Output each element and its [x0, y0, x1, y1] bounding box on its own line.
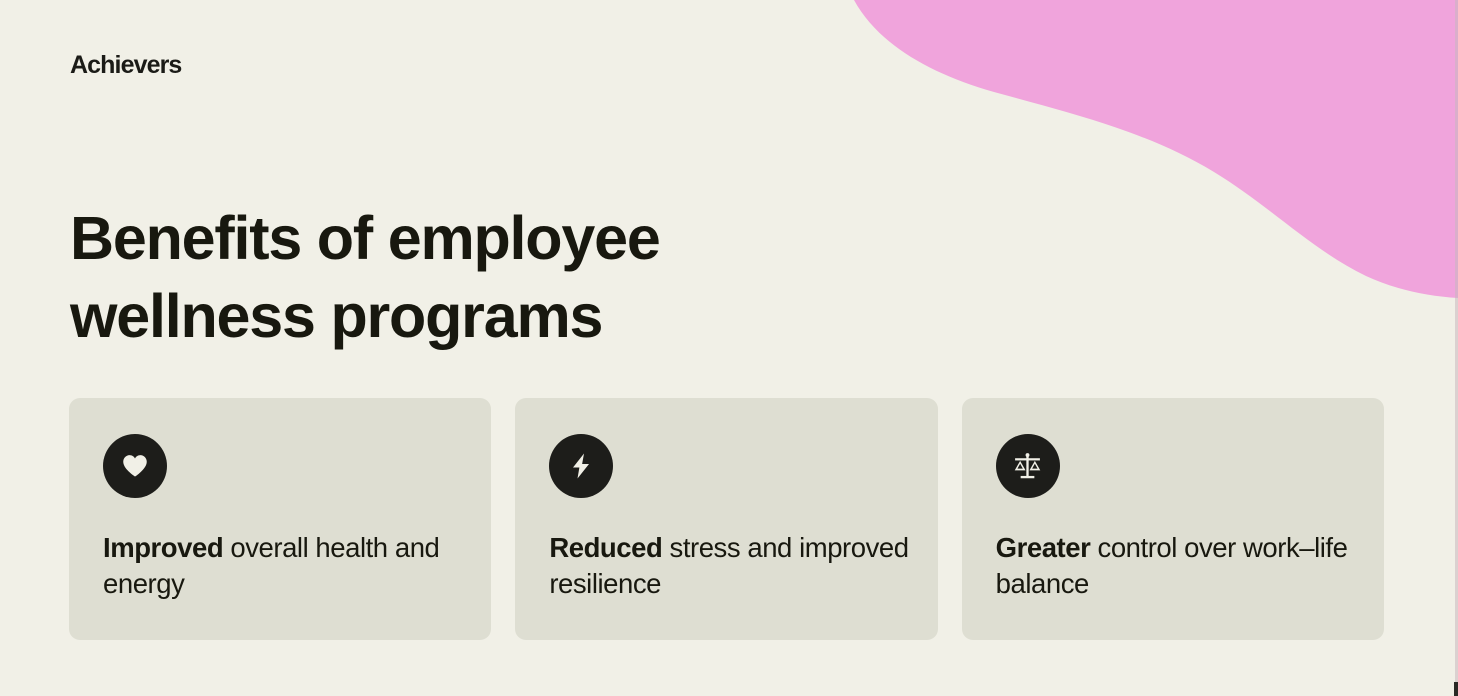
- pink-blob-decoration: [818, 0, 1458, 300]
- lightning-bolt-icon: [549, 434, 613, 498]
- benefit-card-reduced-stress: Reduced stress and improved resilience: [515, 398, 937, 640]
- benefit-card-text: Greater control over work–life balance: [996, 530, 1362, 603]
- benefit-card-text: Reduced stress and improved resilience: [549, 530, 915, 603]
- benefit-card-lead: Greater: [996, 532, 1091, 563]
- page-title-line-2: wellness programs: [70, 277, 870, 355]
- heart-icon: [103, 434, 167, 498]
- page-title-line-1: Benefits of employee: [70, 199, 870, 277]
- brand-logo: Achievers: [70, 53, 181, 78]
- benefit-card-lead: Improved: [103, 532, 223, 563]
- benefit-card-work-life-balance: Greater control over work–life balance: [962, 398, 1384, 640]
- slide-canvas: Achievers Benefits of employee wellness …: [0, 0, 1458, 696]
- benefit-card-text: Improved overall health and energy: [103, 530, 469, 603]
- corner-mark: [1454, 682, 1458, 696]
- page-title: Benefits of employee wellness programs: [70, 199, 870, 355]
- balance-scales-icon: [996, 434, 1060, 498]
- benefit-card-lead: Reduced: [549, 532, 662, 563]
- benefit-card-improved-health: Improved overall health and energy: [69, 398, 491, 640]
- benefit-card-list: Improved overall health and energy Reduc…: [69, 398, 1384, 640]
